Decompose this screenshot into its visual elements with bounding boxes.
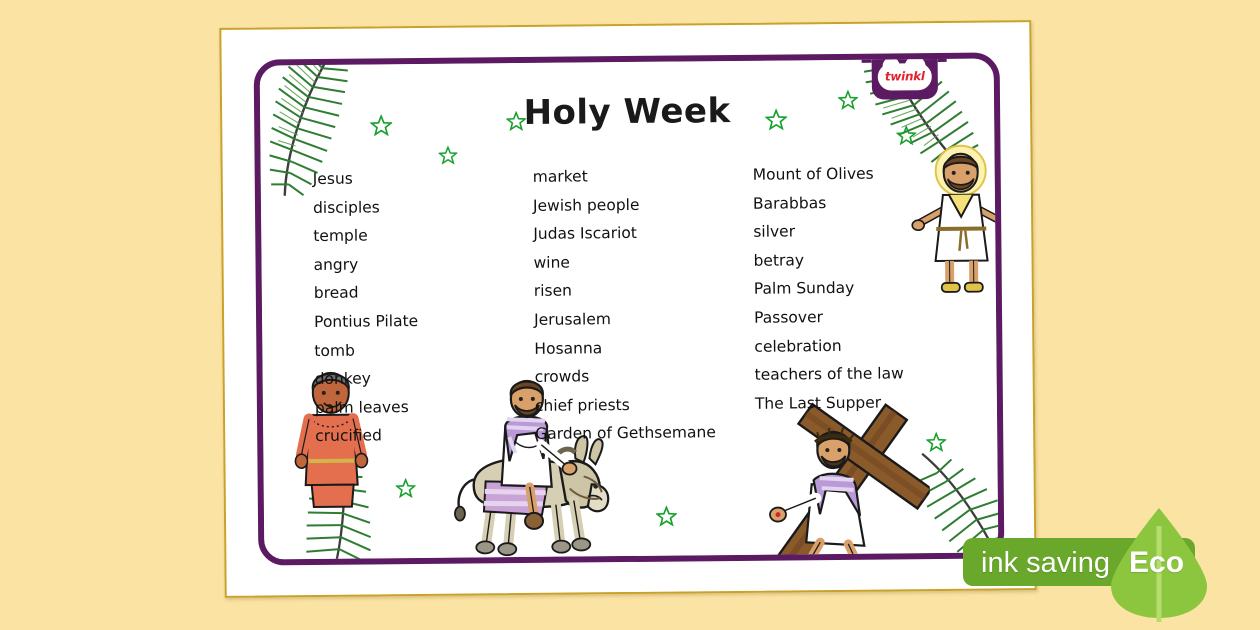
word-column-1: Jesus disciples temple angry bread Ponti… [313,163,536,451]
cloud-icon: twinkl [878,63,932,91]
star-icon [438,146,457,165]
word-item: Jesus [313,163,533,194]
eco-label: Eco [1129,546,1184,580]
word-item: temple [313,220,533,251]
word-item: Jerusalem [534,304,754,335]
word-item: Passover [754,302,974,333]
word-item: chief priests [535,390,755,421]
word-item: Hosanna [534,332,754,363]
word-item: Garden of Gethsemane [535,418,755,449]
ink-saving-eco-badge: ink saving Eco [963,532,1215,592]
twinkl-wordmark: twinkl [885,69,925,83]
word-item: Mount of Olives [753,159,973,190]
star-icon [396,478,416,498]
word-item: crucified [315,420,535,451]
word-item: The Last Supper [755,387,975,418]
ink-saving-label: ink saving [981,547,1110,580]
poster-frame: Holy Week twinkl [254,52,1005,565]
word-column-3: Mount of Olives Barabbas silver betray P… [753,159,976,447]
word-item: tomb [314,334,534,365]
word-item: teachers of the law [755,359,975,390]
word-item: angry [313,249,533,280]
word-item: donkey [315,363,535,394]
poster-sheet: Holy Week twinkl [219,20,1036,598]
word-item: bread [314,277,534,308]
word-item: silver [753,216,973,247]
word-item: market [533,161,753,192]
word-item: celebration [754,330,974,361]
word-item: wine [533,247,753,278]
word-column-2: market Jewish people Judas Iscariot wine… [533,161,756,449]
word-item: betray [753,244,973,275]
word-list: Jesus disciples temple angry bread Ponti… [313,159,978,451]
word-item: Pontius Pilate [314,306,534,337]
word-item: Jewish people [533,189,753,220]
word-item: risen [534,275,754,306]
word-item: Barabbas [753,187,973,218]
word-item: crowds [535,361,755,392]
twinkl-logo: twinkl [872,53,938,100]
word-item: Palm Sunday [754,273,974,304]
star-icon [656,506,677,527]
word-item: palm leaves [315,392,535,423]
word-item: Judas Iscariot [533,218,753,249]
word-item: disciples [313,192,533,223]
